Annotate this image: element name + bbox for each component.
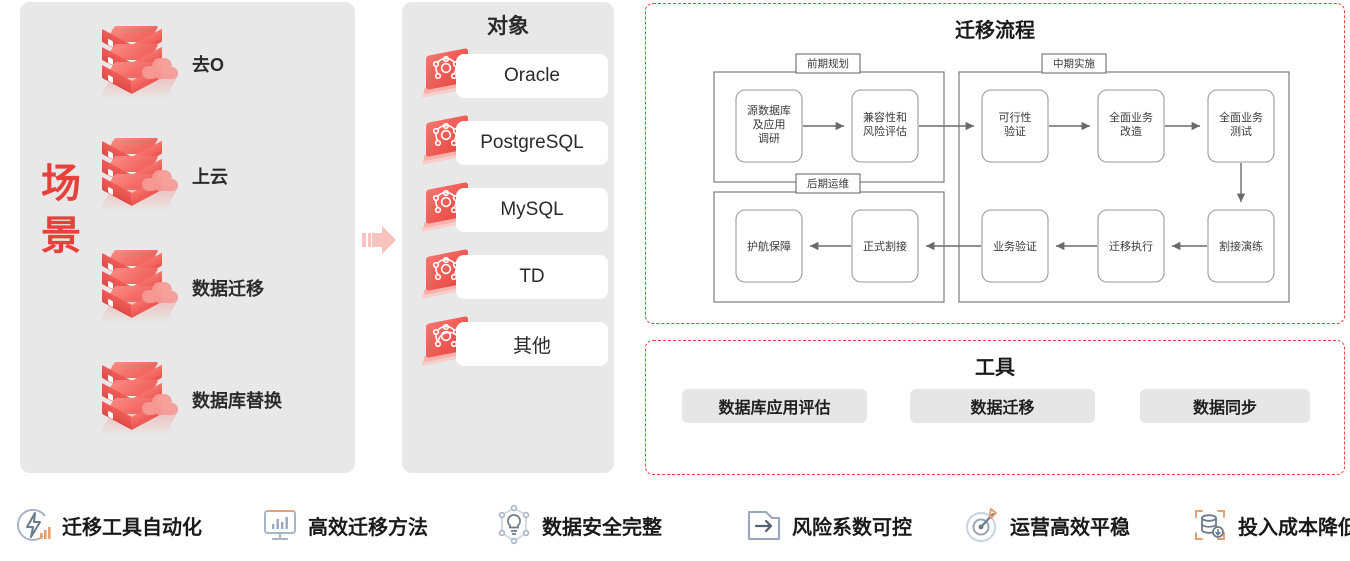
migration-flow-diagram: 前期规划 中期实施 后期运维 源数据库 及应用 调研 兼容性和 风险评估 可行性… (646, 38, 1344, 320)
scene-item-label: 数据迁移 (192, 275, 264, 301)
flow-step-s1-line0: 源数据库 (747, 103, 791, 117)
server-cloud-icon (100, 134, 186, 218)
scene-item-3[interactable]: 数据库替换 (100, 358, 330, 442)
scene-item-2[interactable]: 数据迁移 (100, 246, 330, 330)
flow-step-s3-line0: 可行性 (999, 110, 1032, 124)
flow-step-s7-line0: 迁移执行 (1109, 239, 1153, 253)
flow-step-s9-line0: 正式割接 (863, 239, 907, 253)
flow-group-label-planning: 前期规划 (807, 57, 849, 70)
flow-step-s1-line2: 调研 (758, 132, 780, 145)
scene-item-label: 数据库替换 (192, 387, 282, 413)
object-panel-title: 对象 (402, 10, 614, 40)
lightning-circle-icon (12, 503, 56, 547)
flow-group-label-implementation: 中期实施 (1053, 57, 1095, 70)
scene-item-1[interactable]: 上云 (100, 134, 330, 218)
flow-step-s4-line0: 全面业务 (1109, 110, 1153, 124)
scene-item-label: 上云 (192, 163, 228, 189)
feature-item-0[interactable]: 迁移工具自动化 (12, 489, 202, 561)
migration-flow-panel: 迁移流程 前期规划 中期实施 后期运维 源数据库 及应用 调研 兼容性和 风险评… (645, 3, 1345, 324)
object-panel: 对象 Oracle PostgreSQL (402, 2, 614, 473)
object-item-2[interactable]: MySQL (420, 188, 608, 234)
feature-item-2[interactable]: 数据安全完整 (492, 489, 662, 561)
tool-chip-1[interactable]: 数据迁移 (910, 389, 1095, 423)
scene-panel-title: 场景 (26, 158, 98, 262)
object-item-label: PostgreSQL (456, 121, 608, 165)
flow-step-s3-line1: 验证 (1004, 124, 1026, 138)
feature-item-3[interactable]: 风险系数可控 (742, 489, 912, 561)
object-item-0[interactable]: Oracle (420, 54, 608, 100)
feature-item-label: 数据安全完整 (542, 511, 662, 540)
server-cloud-icon (100, 358, 186, 442)
object-item-label: TD (456, 255, 608, 299)
feature-item-label: 运营高效平稳 (1010, 511, 1130, 540)
tools-panel: 工具 数据库应用评估 数据迁移 数据同步 (645, 340, 1345, 475)
features-row: 迁移工具自动化 高效迁移方法 (0, 489, 1350, 561)
object-item-3[interactable]: TD (420, 255, 608, 301)
tool-chip-0[interactable]: 数据库应用评估 (682, 389, 867, 423)
lightbulb-network-icon (492, 503, 536, 547)
feature-item-4[interactable]: 运营高效平稳 (960, 489, 1130, 561)
object-item-label: MySQL (456, 188, 608, 232)
flow-group-label-operations: 后期运维 (807, 177, 849, 190)
tools-panel-title: 工具 (646, 351, 1344, 380)
feature-item-5[interactable]: 投入成本降低 (1188, 489, 1350, 561)
flow-step-s4-line1: 改造 (1120, 124, 1142, 138)
object-item-1[interactable]: PostgreSQL (420, 121, 608, 167)
right-arrow-icon (362, 225, 396, 255)
scene-item-label: 去O (192, 51, 224, 77)
flow-step-s10-line0: 护航保障 (747, 239, 791, 253)
object-item-label: 其他 (456, 322, 608, 366)
flow-step-s5-line0: 全面业务 (1219, 110, 1263, 124)
feature-item-label: 高效迁移方法 (308, 511, 428, 540)
feature-item-label: 风险系数可控 (792, 511, 912, 540)
target-dart-icon (960, 503, 1004, 547)
flow-step-s5-line1: 测试 (1230, 125, 1252, 138)
flow-step-s2-line1: 风险评估 (863, 124, 907, 138)
flow-step-s1-line1: 及应用 (753, 117, 786, 131)
feature-item-label: 投入成本降低 (1238, 511, 1350, 540)
server-cloud-icon (100, 246, 186, 330)
object-item-4[interactable]: 其他 (420, 322, 608, 368)
database-down-icon (1188, 503, 1232, 547)
feature-item-label: 迁移工具自动化 (62, 511, 202, 540)
server-cloud-icon (100, 22, 186, 106)
flow-step-s8-line0: 业务验证 (993, 239, 1037, 253)
object-item-label: Oracle (456, 54, 608, 98)
flow-step-s2-line0: 兼容性和 (863, 110, 907, 124)
scene-item-0[interactable]: 去O (100, 22, 330, 106)
tool-chip-2[interactable]: 数据同步 (1140, 389, 1310, 423)
feature-item-1[interactable]: 高效迁移方法 (258, 489, 428, 561)
flow-step-s6-line0: 割接演练 (1219, 239, 1263, 253)
arrow-folder-icon (742, 503, 786, 547)
monitor-chart-icon (258, 503, 302, 547)
